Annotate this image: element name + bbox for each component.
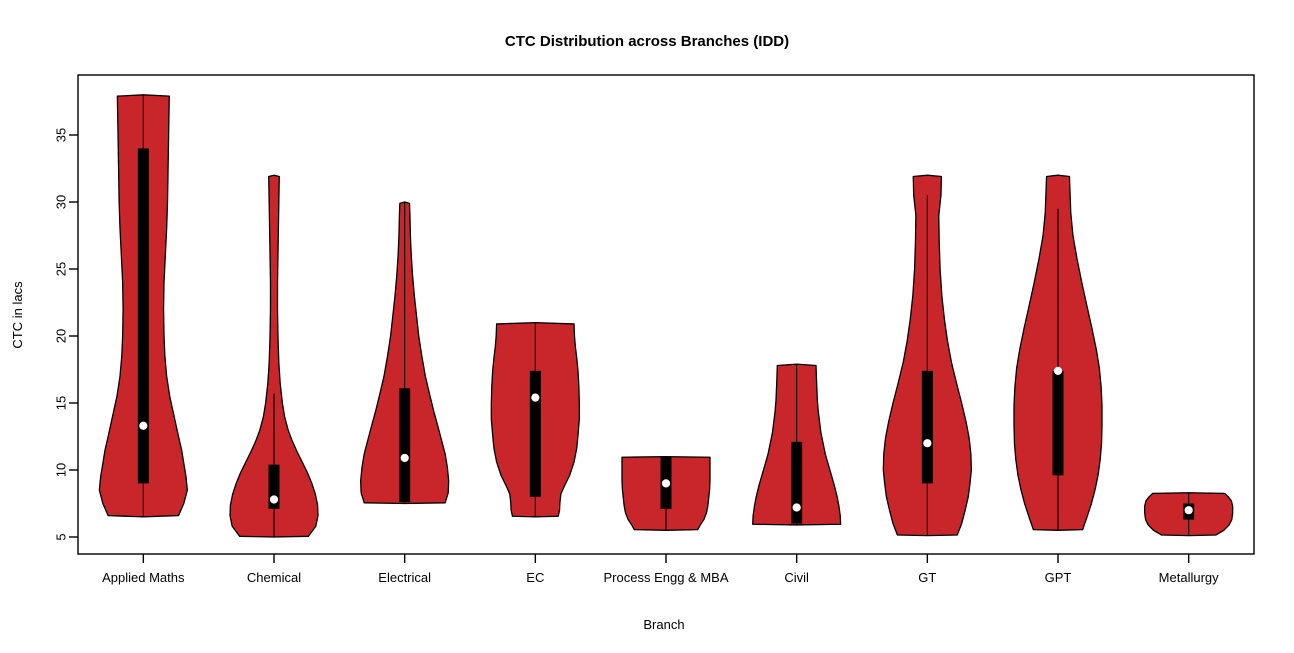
violin-median-point	[662, 479, 670, 487]
violin-iqr-box	[530, 371, 541, 497]
violin-iqr-box	[138, 148, 149, 483]
y-axis-tick-label: 25	[54, 262, 69, 276]
x-axis-tick-label: Civil	[784, 570, 809, 585]
x-axis-tick-label: GPT	[1045, 570, 1072, 585]
x-axis-tick-label: Electrical	[378, 570, 431, 585]
x-axis-tick-label: Metallurgy	[1159, 570, 1219, 585]
chart-title: CTC Distribution across Branches (IDD)	[505, 33, 789, 50]
x-axis-tick-label: EC	[526, 570, 544, 585]
violin-iqr-box	[1053, 371, 1064, 476]
violin-plot-figure: CTC Distribution across Branches (IDD) 5…	[0, 0, 1294, 653]
y-axis-tick-label: 10	[54, 463, 69, 477]
y-axis-tick-label: 5	[54, 533, 69, 540]
y-axis-tick-label: 30	[54, 195, 69, 209]
violin-median-point	[923, 439, 931, 447]
y-axis-tick-label: 35	[54, 128, 69, 142]
violin-median-point	[401, 454, 409, 462]
x-axis-title: Branch	[643, 617, 684, 632]
violin-process-engg-mba[interactable]	[622, 457, 710, 531]
violin-iqr-box	[399, 388, 410, 502]
y-axis-title: CTC in lacs	[10, 281, 25, 349]
x-axis-tick-label: Process Engg & MBA	[604, 570, 729, 585]
violin-median-point	[793, 503, 801, 511]
violin-iqr-box	[922, 371, 933, 484]
violin-median-point	[1054, 367, 1062, 375]
y-axis-tick-label: 15	[54, 396, 69, 410]
violin-median-point	[139, 422, 147, 430]
y-axis-tick-label: 20	[54, 329, 69, 343]
violin-median-point	[1185, 506, 1193, 514]
x-axis-tick-label: GT	[918, 570, 936, 585]
chart-background	[0, 0, 1294, 653]
violin-metallurgy[interactable]	[1145, 493, 1233, 536]
violin-median-point	[531, 394, 539, 402]
x-axis-tick-label: Applied Maths	[102, 570, 185, 585]
x-axis-tick-label: Chemical	[247, 570, 301, 585]
violin-median-point	[270, 495, 278, 503]
chart-canvas: CTC Distribution across Branches (IDD) 5…	[0, 0, 1294, 653]
